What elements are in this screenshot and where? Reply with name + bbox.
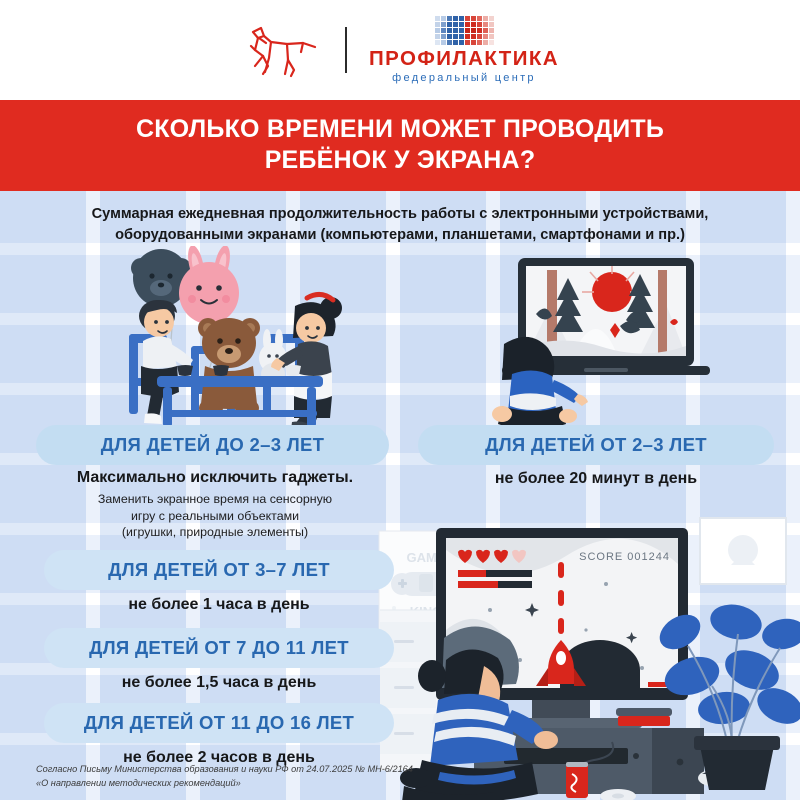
age-group-label: ДЛЯ ДЕТЕЙ ОТ 3–7 ЛЕТ <box>108 559 330 581</box>
subtitle-line2: оборудованными экранами (компьютерами, п… <box>115 227 685 243</box>
brand-lockup: ПРОФИЛАКТИКА федеральный центр <box>369 16 559 84</box>
footnote: Согласно Письму Министерства образования… <box>36 763 413 790</box>
children-at-table-illustration <box>95 246 415 431</box>
age-group-value-от-3-7: не более 1 часа в день <box>44 596 394 614</box>
age-group-pill-от-7-11[interactable]: ДЛЯ ДЕТЕЙ ОТ 7 ДО 11 ЛЕТ <box>44 628 394 668</box>
age-group-label: ДЛЯ ДЕТЕЙ ОТ 11 ДО 16 ЛЕТ <box>84 712 354 734</box>
laptop-screen-scene <box>526 262 686 358</box>
note-line-2: игру с реальными объектами <box>30 508 400 525</box>
top-illustration-band <box>0 246 800 436</box>
rabbit-balloon <box>179 246 239 329</box>
header: ПРОФИЛАКТИКА федеральный центр <box>0 0 800 100</box>
title-banner: СКОЛЬКО ВРЕМЕНИ МОЖЕТ ПРОВОДИТЬ РЕБЁНОК … <box>0 100 800 191</box>
tv-score-label: SCORE 001244 <box>579 551 670 563</box>
banner-title-line1: СКОЛЬКО ВРЕМЕНИ МОЖЕТ ПРОВОДИТЬ <box>136 115 664 143</box>
age-group-value-от-2-3: не более 20 минут в день <box>418 470 774 488</box>
soda-can <box>566 762 588 798</box>
value-text: не более 1 часа в день <box>128 596 309 613</box>
age-group-label: ДЛЯ ДЕТЕЙ ОТ 2–3 ЛЕТ <box>485 434 707 456</box>
note-line-1: Заменить экранное время на сенсорную <box>30 491 400 508</box>
horse-line-icon <box>241 22 323 78</box>
note-line-3: (игрушки, природные элементы) <box>30 524 400 541</box>
footnote-line1: Согласно Письму Министерства образования… <box>36 764 413 774</box>
value-text: не более 20 минут в день <box>495 470 697 487</box>
value-text: не более 1,5 часа в день <box>122 674 317 691</box>
banner-title-line2: РЕБЁНОК У ЭКРАНА? <box>265 146 536 174</box>
brand-subtitle: федеральный центр <box>392 73 536 84</box>
pixel-grid-icon <box>435 16 494 45</box>
age-group-pill-от-3-7[interactable]: ДЛЯ ДЕТЕЙ ОТ 3–7 ЛЕТ <box>44 550 394 590</box>
age-group-label: ДЛЯ ДЕТЕЙ ДО 2–3 ЛЕТ <box>101 434 325 456</box>
age-group-pill-до-2-3[interactable]: ДЛЯ ДЕТЕЙ ДО 2–3 ЛЕТ <box>36 425 389 465</box>
infographic-page: ПРОФИЛАКТИКА федеральный центр СКОЛЬКО В… <box>0 0 800 800</box>
footnote-line2: «О направлении методических рекомендаций… <box>36 778 241 788</box>
age-group-pill-от-11-16[interactable]: ДЛЯ ДЕТЕЙ ОТ 11 ДО 16 ЛЕТ <box>44 703 394 743</box>
child-watching-laptop-illustration <box>490 248 790 430</box>
child-playing-console-illustration: SCORE 001244 <box>380 510 800 800</box>
logo-divider <box>345 27 347 73</box>
picture-frame <box>700 518 786 584</box>
note-strong: Максимально исключить гаджеты. <box>30 468 400 489</box>
age-group-note-до-2-3: Максимально исключить гаджеты. Заменить … <box>30 468 400 541</box>
brand-name: ПРОФИЛАКТИКА <box>369 49 559 70</box>
age-group-pill-от-2-3[interactable]: ДЛЯ ДЕТЕЙ ОТ 2–3 ЛЕТ <box>418 425 774 465</box>
age-group-label: ДЛЯ ДЕТЕЙ ОТ 7 ДО 11 ЛЕТ <box>89 637 349 659</box>
age-group-value-от-7-11: не более 1,5 часа в день <box>44 674 394 692</box>
teddy-bear <box>198 318 260 417</box>
subtitle-line1: Суммарная ежедневная продолжительность р… <box>92 206 709 222</box>
subtitle: Суммарная ежедневная продолжительность р… <box>0 191 800 246</box>
